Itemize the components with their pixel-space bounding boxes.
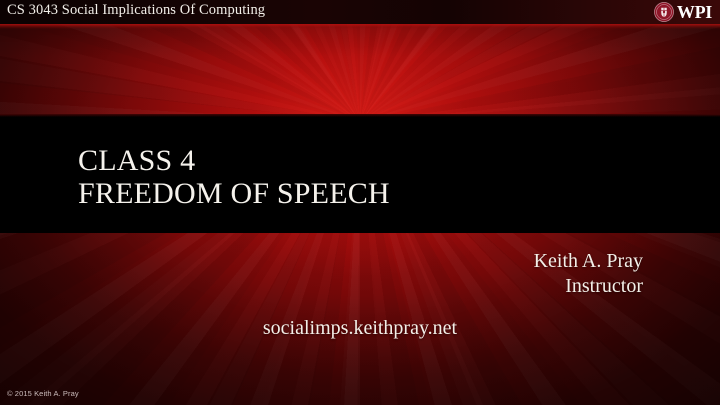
wpi-wordmark: WPI (677, 2, 712, 22)
course-title: CS 3043 Social Implications Of Computing (7, 2, 265, 19)
course-website-url[interactable]: socialimps.keithpray.net (0, 316, 720, 340)
slide-title-line-1: CLASS 4 (78, 144, 390, 177)
slide-title: CLASS 4 FREEDOM OF SPEECH (78, 144, 390, 210)
wpi-seal-icon (654, 2, 674, 22)
instructor-role: Instructor (534, 274, 643, 299)
copyright-notice: © 2015 Keith A. Pray (7, 389, 79, 399)
title-band: CLASS 4 FREEDOM OF SPEECH (0, 114, 720, 233)
header-underglow (0, 24, 720, 29)
presentation-slide: CS 3043 Social Implications Of Computing… (0, 0, 720, 405)
wpi-logo: WPI (654, 1, 712, 23)
instructor-name: Keith A. Pray (534, 249, 643, 274)
instructor-block: Keith A. Pray Instructor (534, 249, 643, 299)
title-band-glow (0, 114, 720, 117)
slide-title-line-2: FREEDOM OF SPEECH (78, 177, 390, 210)
